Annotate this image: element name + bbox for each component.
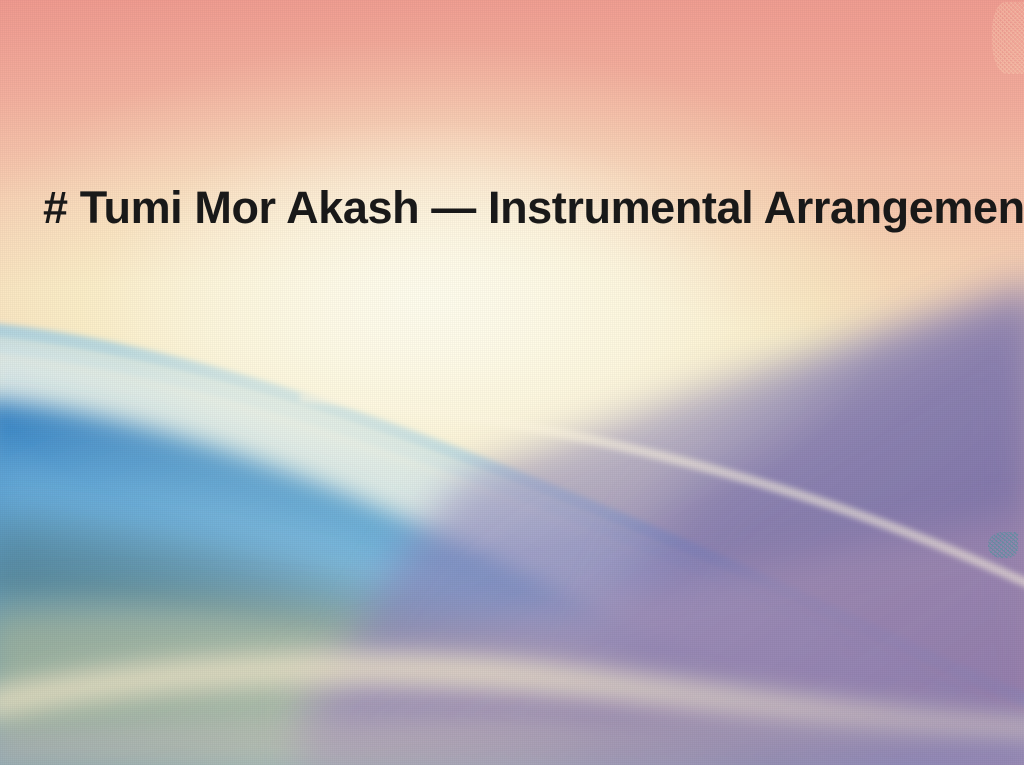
title-slide: # Tumi Mor Akash — Instrumental Arrangem… bbox=[0, 0, 1024, 765]
page-title: # Tumi Mor Akash — Instrumental Arrangem… bbox=[43, 183, 1024, 233]
dither-blob-top-right-icon bbox=[992, 2, 1024, 74]
dither-speck-teal-icon bbox=[988, 532, 1018, 558]
wave-artwork bbox=[0, 0, 1024, 765]
